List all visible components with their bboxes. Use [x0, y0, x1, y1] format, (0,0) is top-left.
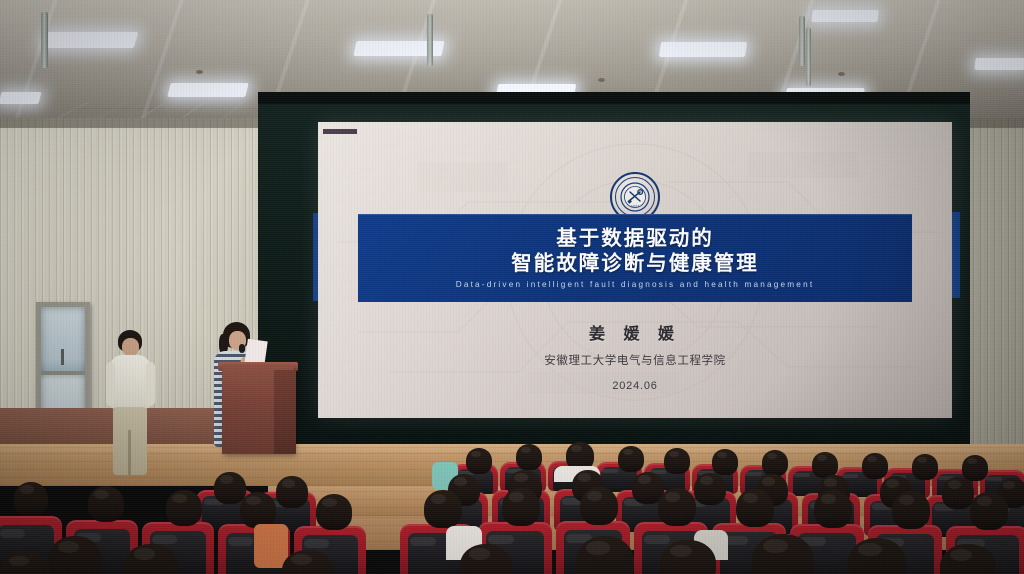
audience-head	[166, 490, 202, 526]
window-mullion	[41, 371, 85, 375]
audience-head	[664, 448, 690, 474]
audience-head	[762, 450, 788, 476]
auditorium-scene-photo: AUST 基于数据驱动的 智能故障诊断与健康管理 Data-driven int…	[0, 0, 1024, 574]
recessed-fluorescent-panel	[659, 42, 747, 57]
ceiling-mount-bracket	[427, 14, 433, 66]
recessed-fluorescent-panel	[167, 83, 248, 97]
smoke-detector-icon	[196, 70, 203, 74]
seated-audience	[0, 440, 1024, 574]
slide-date: 2024.06	[318, 380, 952, 392]
audience-head	[424, 490, 462, 528]
audience-head	[892, 491, 930, 529]
slide-title-line-2: 智能故障诊断与健康管理	[511, 252, 759, 276]
ceiling-mount-bracket	[806, 28, 811, 86]
svg-text:AUST: AUST	[631, 205, 640, 209]
audience-head	[962, 455, 988, 481]
audience-head-foreground	[48, 536, 102, 574]
slide-presenter-name: 姜 媛 媛	[318, 320, 952, 344]
audience-head	[240, 492, 276, 528]
host-right-arm	[146, 362, 155, 406]
audience-head	[912, 454, 938, 480]
audience-head	[88, 486, 124, 522]
audience-shirt-orange	[254, 524, 288, 568]
host-left-arm	[106, 362, 115, 406]
audience-head	[712, 449, 738, 475]
recessed-fluorescent-panel	[42, 32, 139, 48]
audience-head	[516, 444, 542, 470]
audience-head	[658, 488, 696, 526]
audience-head	[14, 482, 48, 516]
audience-head	[814, 490, 852, 528]
slide-affiliation: 安徽理工大学电气与信息工程学院	[318, 352, 952, 368]
recessed-fluorescent-panel	[811, 10, 878, 22]
smoke-detector-icon	[838, 72, 845, 76]
audience-head	[466, 448, 492, 474]
audience-head	[736, 489, 774, 527]
host-white-top	[110, 355, 150, 409]
host-face	[122, 338, 139, 356]
microphone-icon	[239, 344, 245, 353]
window-exterior-post	[61, 349, 64, 365]
audience-head	[862, 453, 888, 479]
recessed-fluorescent-panel	[974, 58, 1024, 70]
crossed-tools-icon: AUST	[620, 182, 650, 212]
audience-head	[970, 492, 1008, 530]
audience-head	[580, 487, 618, 525]
audience-head	[214, 472, 246, 504]
slide-subtitle-english: Data-driven intelligent fault diagnosis …	[456, 280, 815, 289]
recessed-fluorescent-panel	[0, 92, 41, 104]
presentation-slide: AUST 基于数据驱动的 智能故障诊断与健康管理 Data-driven int…	[318, 122, 952, 418]
audience-head	[502, 488, 540, 526]
slide-corner-marker	[323, 129, 357, 134]
audience-head	[942, 477, 974, 509]
ceiling-mount-bracket	[41, 12, 48, 68]
audience-head	[694, 473, 726, 505]
projection-screen-top-trim	[258, 92, 970, 104]
audience-head	[276, 476, 308, 508]
ceiling-mount-bracket	[799, 16, 805, 66]
slide-title-band: 基于数据驱动的 智能故障诊断与健康管理 Data-driven intellig…	[358, 214, 912, 302]
audience-head	[316, 494, 352, 530]
slide-title-line-1: 基于数据驱动的	[556, 227, 714, 251]
smoke-detector-icon	[598, 78, 605, 82]
audience-head	[618, 446, 644, 472]
